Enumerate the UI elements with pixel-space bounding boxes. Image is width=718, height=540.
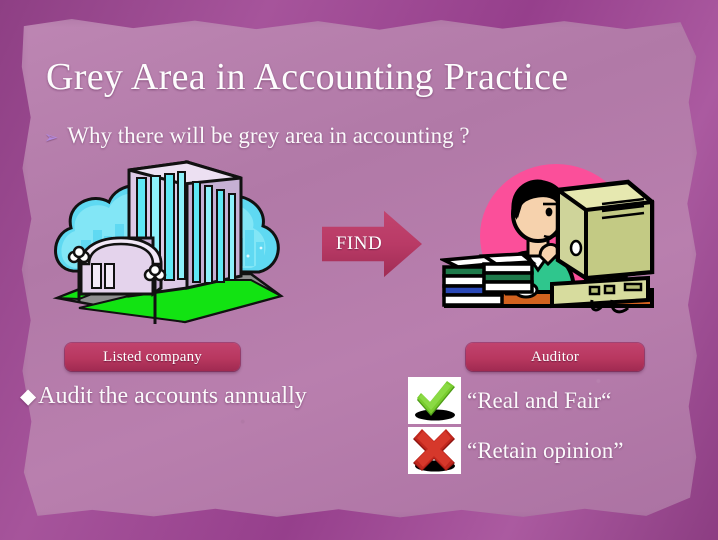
presentation-slide: Grey Area in Accounting Practice ➢ Why t… [0, 0, 718, 540]
caption-auditor: Auditor [466, 343, 644, 371]
office-building-image [45, 156, 290, 324]
slide-title: Grey Area in Accounting Practice [46, 55, 568, 99]
auditor-image [440, 160, 668, 326]
auditor-at-computer-icon [440, 160, 668, 326]
audit-bullet-line: ◆ Audit the accounts annually [20, 383, 307, 410]
caption-listed-company: Listed company [65, 343, 240, 371]
opinion-row-real-and-fair: “Real and Fair“ [408, 377, 611, 424]
find-arrow: FIND [322, 208, 422, 280]
opinion-text-real-and-fair: “Real and Fair“ [467, 388, 611, 414]
audit-bullet-text: Audit the accounts annually [38, 383, 307, 410]
office-building-icon [45, 156, 290, 324]
green-check-icon [408, 377, 461, 424]
arrow-bullet-icon: ➢ [44, 129, 58, 146]
diamond-bullet-icon: ◆ [20, 386, 36, 407]
subheading-bullet: ➢ Why there will be grey area in account… [44, 123, 470, 149]
opinion-row-retain-opinion: “Retain opinion” [408, 427, 624, 474]
subheading-text: Why there will be grey area in accountin… [67, 123, 469, 149]
opinion-text-retain-opinion: “Retain opinion” [467, 438, 624, 464]
red-cross-icon [408, 427, 461, 474]
find-arrow-label: FIND [328, 233, 390, 255]
